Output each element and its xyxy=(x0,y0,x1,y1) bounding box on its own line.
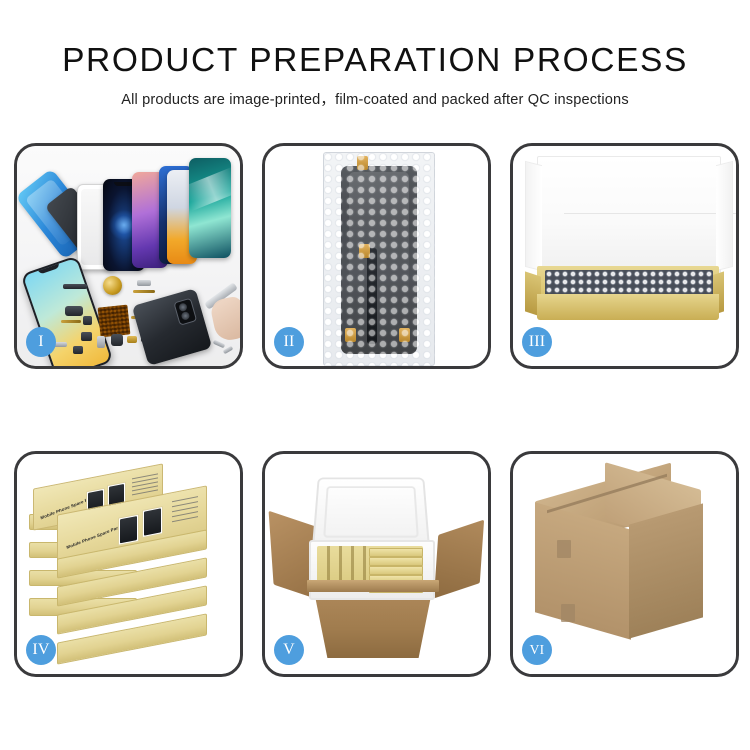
part-button-a xyxy=(97,336,105,348)
carton-tape-upper xyxy=(557,540,571,558)
part-connector-a xyxy=(65,306,83,316)
kraft-box-front-face xyxy=(537,294,719,320)
step-badge-2: II xyxy=(274,327,304,357)
step-badge-4: IV xyxy=(26,635,56,665)
kraft-box-window-front-1 xyxy=(118,514,139,546)
step-panel-3[interactable]: III xyxy=(510,143,739,369)
kraft-box-inside-3 xyxy=(369,566,423,575)
tape-top xyxy=(357,156,368,170)
step-panel-2[interactable]: II xyxy=(262,143,491,369)
carton-flap-right xyxy=(434,520,484,599)
kraft-box-inside-1 xyxy=(369,548,423,557)
tape-bottom-right xyxy=(399,328,410,342)
step-panel-4[interactable]: Mobile Phone Spare Parts Mobile Phone Sp… xyxy=(14,451,243,677)
part-gold-contact xyxy=(127,336,137,343)
tape-middle xyxy=(359,244,370,258)
page-title: PRODUCT PREPARATION PROCESS xyxy=(0,42,750,80)
carton-side-face-right xyxy=(629,503,703,638)
phone-teal-flagship xyxy=(189,158,231,258)
page-subtitle: All products are image-printed，film-coat… xyxy=(0,88,750,109)
carton-top-rim xyxy=(307,580,439,592)
kraft-box-spec-line xyxy=(172,516,198,522)
kraft-box-window-front-2 xyxy=(142,506,163,538)
part-speaker-bar xyxy=(63,284,87,289)
step-panel-1[interactable]: I xyxy=(14,143,243,369)
part-flex-cable-a xyxy=(133,290,155,293)
box-lid-white xyxy=(537,156,721,276)
process-steps-grid: I II III xyxy=(12,141,742,689)
tape-bottom-left xyxy=(345,328,356,342)
step-badge-1: I xyxy=(26,327,56,357)
logic-board-chip-grid xyxy=(98,305,131,338)
camera-bump-icon xyxy=(173,298,197,326)
carton-tape-lower xyxy=(561,604,575,622)
bubble-wrap-bag xyxy=(323,152,435,366)
page-header: PRODUCT PREPARATION PROCESS All products… xyxy=(0,0,750,130)
kraft-box-stack: Mobile Phone Spare Parts Mobile Phone Sp… xyxy=(27,472,235,664)
part-chip-d xyxy=(73,346,83,354)
part-flex-cable-b xyxy=(61,320,81,323)
wrapped-flex-cable xyxy=(367,248,377,344)
kraft-box-inside-2 xyxy=(369,557,423,566)
part-bracket-a xyxy=(137,280,151,286)
taptic-coil-part xyxy=(103,276,122,295)
step-panel-6[interactable]: VI xyxy=(510,451,739,677)
part-chip-a xyxy=(83,316,92,325)
kraft-box-label-front: Mobile Phone Spare Parts xyxy=(66,524,122,550)
step-badge-6: VI xyxy=(522,635,552,665)
step-panel-5[interactable]: V xyxy=(262,451,491,677)
step-badge-5: V xyxy=(274,635,304,665)
lid-crease-line xyxy=(564,213,736,214)
part-chip-b xyxy=(81,332,92,341)
foam-lid xyxy=(312,478,430,549)
part-camera-module xyxy=(111,334,123,346)
wrapped-screen-assembly xyxy=(341,166,417,354)
step-badge-3: III xyxy=(522,327,552,357)
